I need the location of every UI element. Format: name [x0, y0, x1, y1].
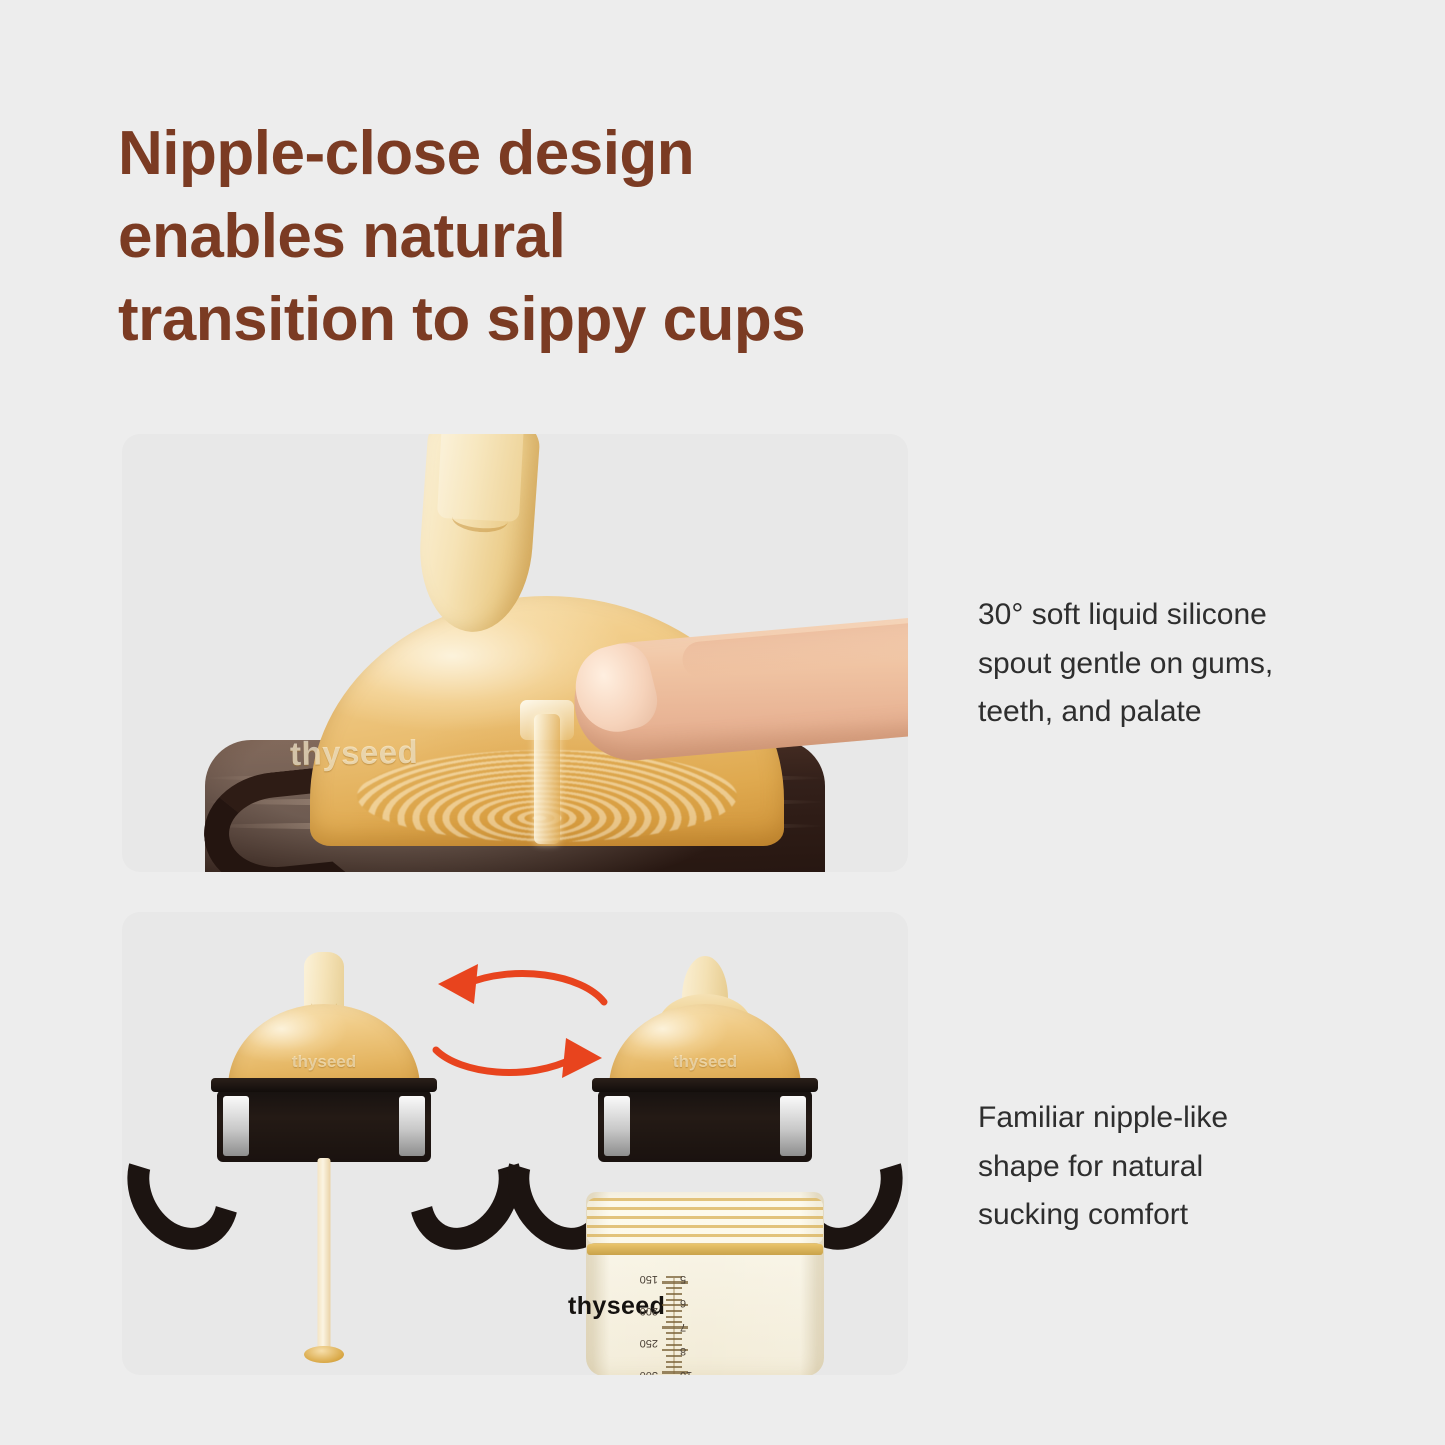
scale-label-ml: 300 [640, 1369, 658, 1375]
scale-tick [666, 1293, 682, 1295]
brand-emboss-right-dome: thyseed [673, 1052, 737, 1072]
bottle-gold-band [587, 1244, 823, 1255]
collar-right-accent-left [604, 1096, 630, 1156]
bottle-neck-threads [587, 1198, 823, 1244]
collar-left-accent-right [399, 1096, 425, 1156]
scale-label-oz: 8 [680, 1345, 686, 1357]
spout-feature-caption: 30° soft liquid silicone spout gentle on… [978, 591, 1378, 737]
measurement-scale: 108765300250200150 [626, 1278, 712, 1374]
brand-emboss-left-dome: thyseed [292, 1052, 356, 1072]
collar-left-accent-left [223, 1096, 249, 1156]
spout-press-illustration: thyseed [122, 434, 908, 872]
scale-label-ml: 250 [640, 1337, 658, 1349]
scale-label-oz: 7 [680, 1321, 686, 1333]
nipple-caption-line-2: shape for natural [978, 1143, 1378, 1192]
page-title: Nipple-close design enables natural tran… [118, 112, 1078, 361]
scale-label-oz: 10 [680, 1369, 692, 1375]
collar-right-accent-right [780, 1096, 806, 1156]
straw [318, 1158, 331, 1354]
collar-left [217, 1090, 431, 1162]
headline-line-2: enables natural [118, 195, 1078, 278]
spout-caption-line-2: spout gentle on gums, [978, 640, 1378, 689]
straw-weight-ball [304, 1346, 344, 1363]
nipple-caption-line-3: sucking comfort [978, 1191, 1378, 1240]
scale-tick [666, 1361, 682, 1363]
brand-emboss-dome: thyseed [290, 733, 419, 773]
scale-tick [666, 1316, 682, 1318]
collar-right [598, 1090, 812, 1162]
nipple-feature-caption: Familiar nipple-like shape for natural s… [978, 1094, 1378, 1240]
headline-line-3: transition to sippy cups [118, 278, 1078, 361]
nipple-caption-line-1: Familiar nipple-like [978, 1094, 1378, 1143]
scale-tick [666, 1287, 682, 1289]
scale-label-oz: 6 [680, 1297, 686, 1309]
spout-caption-line-3: teeth, and palate [978, 688, 1378, 737]
valve-stem [534, 714, 560, 844]
spout-caption-line-1: 30° soft liquid silicone [978, 591, 1378, 640]
scale-label-ml: 150 [640, 1273, 658, 1285]
nipple-feature-image-panel: thyseed [122, 912, 908, 1375]
spout-nipple-swap-illustration: thyseed [122, 912, 908, 1375]
nipple-bottle: thyseed thyseed 108765300250200150 [514, 948, 896, 1375]
headline-line-1: Nipple-close design [118, 112, 1078, 195]
scale-tick [666, 1338, 682, 1340]
spout-feature-image-panel: thyseed [122, 434, 908, 872]
scale-tick [666, 1310, 682, 1312]
scale-label-oz: 5 [680, 1273, 686, 1285]
scale-label-ml: 200 [640, 1305, 658, 1317]
